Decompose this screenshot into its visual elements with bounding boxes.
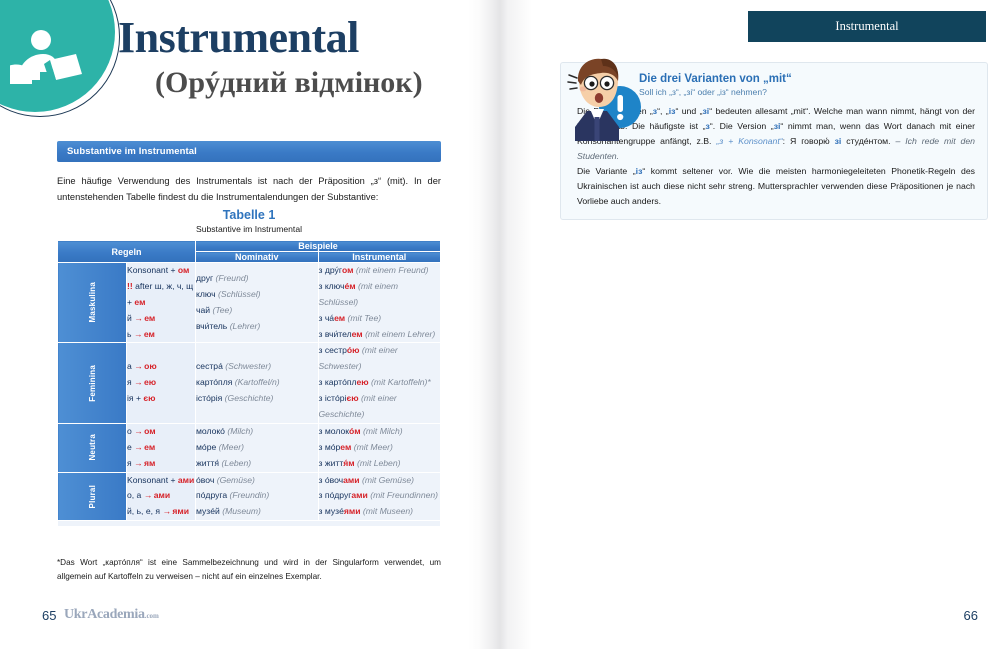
- table-row: Neutraо → оме → емя → яммолокó (Milch)мó…: [58, 423, 441, 472]
- page-title-uk: (Орýдний відмінок): [155, 66, 423, 100]
- brand-tld: .com: [145, 612, 159, 620]
- table-nominativ-cell: óвоч (Gemüse)пóдруга (Freundin)музéй (Mu…: [196, 472, 319, 521]
- tip-box: Die drei Varianten von „mit“ Soll ich „з…: [560, 62, 988, 220]
- right-page: Instrumental Die drei Variante: [500, 0, 1000, 649]
- table-instrumental-cell: з сестрóю (mit einer Schwester)з картóпл…: [318, 343, 441, 423]
- tip-title: Die drei Varianten von „mit“: [639, 73, 975, 85]
- table-head: Regeln Beispiele Nominativ Instrumental: [58, 241, 441, 263]
- table-body: MaskulinaKonsonant + ом!! after ш, ж, ч,…: [58, 263, 441, 521]
- table-subtitle: Substantive im Instrumental: [57, 224, 441, 234]
- book-spread: Instrumental (Орýдний відмінок) Substant…: [0, 0, 1000, 649]
- th-beispiele: Beispiele: [196, 241, 441, 252]
- table-row: PluralKonsonant + амио, а → амий, ь, е, …: [58, 472, 441, 521]
- table-category-label: Feminina: [88, 361, 97, 406]
- th-instrumental: Instrumental: [318, 252, 441, 263]
- th-nominativ: Nominativ: [196, 252, 319, 263]
- page-number-left: 65: [42, 608, 56, 623]
- table-category-label: Plural: [88, 481, 97, 512]
- table-bottom-strip: [57, 521, 441, 527]
- footnote-text: *Das Wort „картóпля“ ist eine Sammelbeze…: [57, 556, 441, 585]
- table-instrumental-cell: з óвочами (mit Gemüse)з пóдругами (mit F…: [318, 472, 441, 521]
- left-page: Instrumental (Орýдний відмінок) Substant…: [0, 0, 500, 649]
- table-rules-cell: Konsonant + амио, а → амий, ь, е, я → ям…: [127, 472, 196, 521]
- running-head: Instrumental: [748, 11, 986, 42]
- surprised-man-icon: [557, 55, 645, 147]
- page-number-right: 66: [964, 608, 978, 623]
- brand-name: UkrAcademia: [64, 607, 145, 622]
- instrumental-endings-table: Regeln Beispiele Nominativ Instrumental …: [57, 240, 441, 521]
- table-instrumental-cell: з молокóм (mit Milch)з мóрем (mit Meer)з…: [318, 423, 441, 472]
- table-row: MaskulinaKonsonant + ом!! after ш, ж, ч,…: [58, 263, 441, 343]
- intro-paragraph: Eine häufige Verwendung des Instrumental…: [57, 173, 441, 206]
- table-head-row-1: Regeln Beispiele: [58, 241, 441, 252]
- table-category-label: Maskulina: [88, 278, 97, 326]
- table-nominativ-cell: сестрá (Schwester)картóпля (Kartoffel/n)…: [196, 343, 319, 423]
- table-category-cell: Neutra: [58, 423, 127, 472]
- table-rules-cell: а → оюя → еюія + єю: [127, 343, 196, 423]
- table-category-label: Neutra: [88, 430, 97, 465]
- table-instrumental-cell: з дру́гом (mit einem Freund)з ключéм (mi…: [318, 263, 441, 343]
- brand-logo: UkrAcademia.com: [64, 607, 159, 623]
- th-regeln: Regeln: [58, 241, 196, 263]
- page-title-en: Instrumental: [118, 12, 359, 63]
- table-row: Femininaа → оюя → еюія + єюсестрá (Schwe…: [58, 343, 441, 423]
- section-bar-substantive: Substantive im Instrumental: [57, 141, 441, 162]
- table-nominativ-cell: молокó (Milch)мóре (Meer)життя́ (Leben): [196, 423, 319, 472]
- table-nominativ-cell: друг (Freund)ключ (Schlüssel)чай (Tee)вч…: [196, 263, 319, 343]
- table-rules-cell: о → оме → емя → ям: [127, 423, 196, 472]
- reading-person-icon: [10, 28, 88, 90]
- table-category-cell: Maskulina: [58, 263, 127, 343]
- table-category-cell: Feminina: [58, 343, 127, 423]
- table-rules-cell: Konsonant + ом!! after ш, ж, ч, щ + емй …: [127, 263, 196, 343]
- table-category-cell: Plural: [58, 472, 127, 521]
- table-title: Tabelle 1: [57, 208, 441, 222]
- tip-subtitle: Soll ich „з“, „зі“ oder „із“ nehmen?: [639, 87, 975, 97]
